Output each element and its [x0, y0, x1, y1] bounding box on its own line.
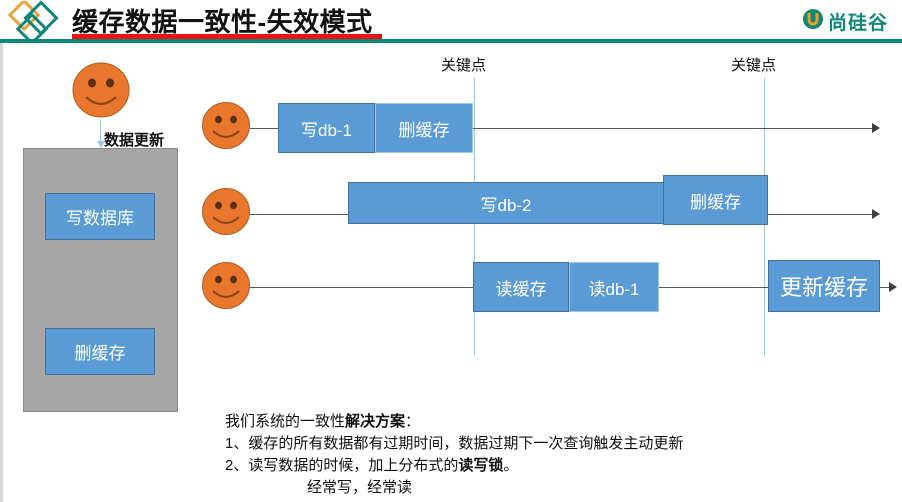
data-update-label: 数据更新 [104, 129, 164, 150]
step-write-db-label: 写数据库 [66, 204, 134, 229]
slide-root: 缓存数据一致性-失效模式 尚硅谷 关键点 关键点 [0, 0, 902, 502]
notes-line-1-prefix: 我们系统的一致性 [225, 413, 345, 430]
row2-line-right [768, 214, 873, 215]
slide-header: 缓存数据一致性-失效模式 尚硅谷 [0, 0, 902, 44]
row2-box-write-db2[interactable]: 写db-2 [348, 182, 664, 224]
slide-body: 关键点 关键点 数据更新 写数据库 删缓存 [0, 43, 902, 502]
row1-box-write-db1[interactable]: 写db-1 [278, 103, 375, 153]
row3-box-read-cache[interactable]: 读缓存 [473, 262, 569, 312]
row3-box-read-db1[interactable]: 读db-1 [569, 262, 659, 312]
step-write-db-box[interactable]: 写数据库 [45, 193, 155, 240]
smiley-face-icon [201, 101, 251, 155]
step-delete-cache-box[interactable]: 删缓存 [45, 328, 155, 375]
row1-line-right [473, 128, 873, 129]
row2-box-delete-cache-label: 删缓存 [690, 188, 741, 213]
smiley-face-icon [201, 187, 251, 241]
row3-box-read-cache-label: 读缓存 [496, 275, 547, 300]
notes-line-3-prefix: 2、读写数据的时候，加上分布式的 [225, 457, 458, 474]
notes-line-1: 我们系统的一致性解决方案： [225, 411, 683, 433]
notes-line-4: 经常写，经常读 [225, 477, 683, 499]
row3-line-left [250, 287, 473, 288]
brand-logo: 尚硅谷 [802, 8, 888, 35]
notes-line-2: 1、缓存的所有数据都有过期时间，数据过期下一次查询触发主动更新 [225, 433, 683, 455]
smiley-face-icon [201, 261, 251, 315]
keypoint-label-1: 关键点 [441, 54, 486, 75]
row3-box-update-cache[interactable]: 更新缓存 [768, 260, 880, 312]
row1-arrowhead [872, 123, 880, 133]
row1-box-write-db1-label: 写db-1 [301, 116, 352, 141]
notes-line-1-emph: 解决方案 [345, 413, 405, 430]
row1-box-delete-cache-label: 删缓存 [399, 116, 450, 141]
row3-arrowhead [889, 282, 897, 292]
row3-box-read-db1-label: 读db-1 [588, 275, 639, 300]
row3-box-update-cache-label: 更新缓存 [780, 270, 868, 302]
row2-box-write-db2-label: 写db-2 [480, 191, 531, 216]
solution-notes: 我们系统的一致性解决方案： 1、缓存的所有数据都有过期时间，数据过期下一次查询触… [225, 411, 683, 499]
brand-name: 尚硅谷 [828, 8, 888, 35]
row2-arrowhead [872, 209, 880, 219]
row3-line-mid [659, 287, 768, 288]
notes-line-3: 2、读写数据的时候，加上分布式的读写锁。 [225, 455, 683, 477]
smiley-face-icon [71, 61, 131, 124]
row1-line-left [250, 128, 280, 129]
row1-box-delete-cache[interactable]: 删缓存 [375, 103, 473, 153]
notes-line-3-emph: 读写锁 [458, 457, 503, 474]
row2-box-delete-cache[interactable]: 删缓存 [663, 175, 768, 225]
u-circle-icon [802, 8, 824, 35]
row2-line-left [250, 214, 348, 215]
notes-line-1-suffix: ： [405, 413, 420, 430]
notes-line-3-suffix: 。 [503, 457, 518, 474]
step-delete-cache-label: 删缓存 [75, 339, 126, 364]
keypoint-label-2: 关键点 [731, 54, 776, 75]
diamond-logo-icon [6, 1, 66, 41]
